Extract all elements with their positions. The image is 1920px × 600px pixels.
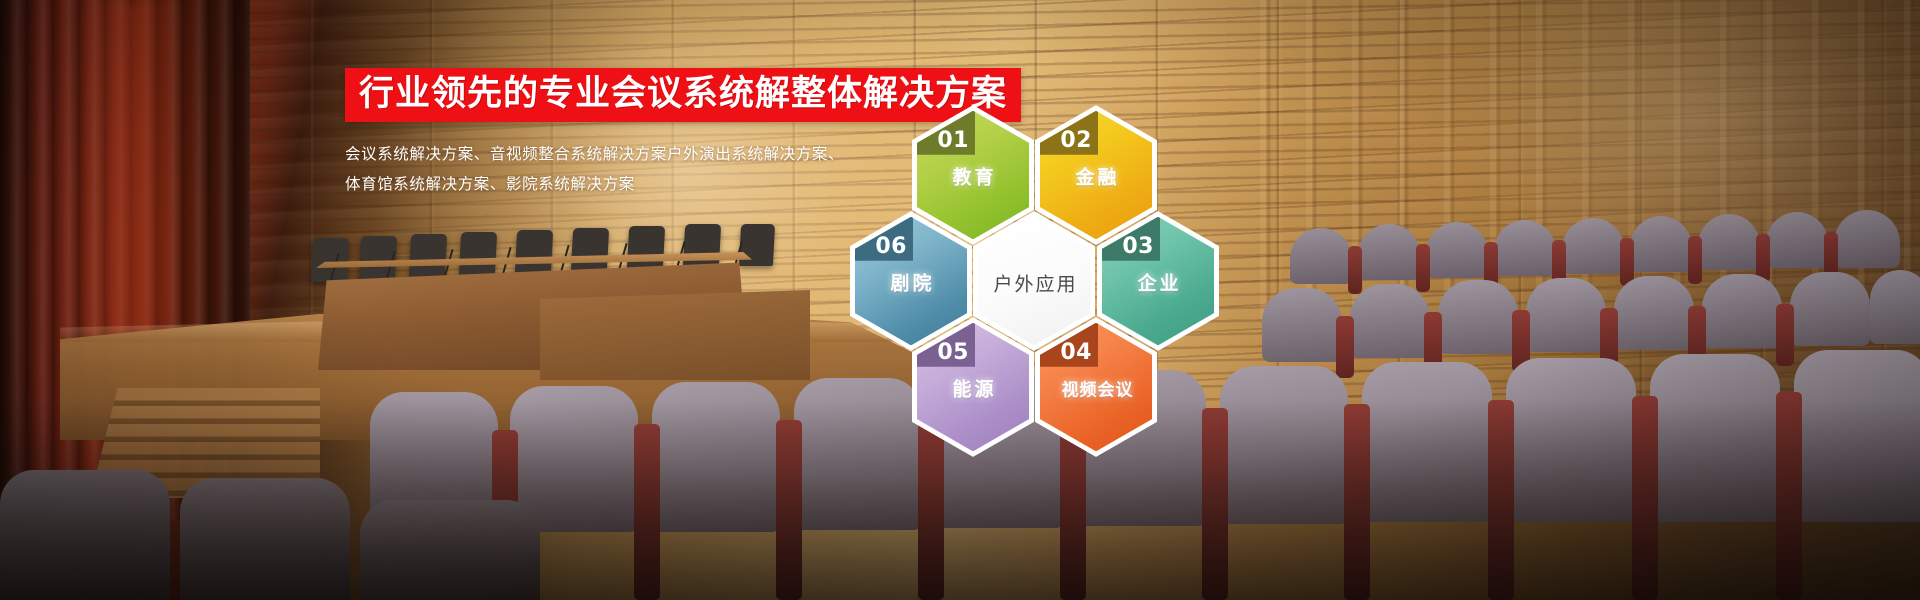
hexagon-cluster: 01 教育 02 金融 03 企业 bbox=[840, 100, 1260, 480]
stage-chair bbox=[683, 224, 721, 268]
promo-banner: 行业领先的专业会议系统解整体解决方案 会议系统解决方案、音视频整合系统解决方案户… bbox=[0, 0, 1920, 600]
stage-chair bbox=[459, 232, 497, 276]
hexagon-number: 04 bbox=[1060, 342, 1098, 367]
podium-side bbox=[540, 290, 810, 380]
hexagon-number: 05 bbox=[937, 342, 975, 367]
hexagon-label: 视频会议 bbox=[1040, 376, 1152, 401]
stage-chair bbox=[515, 230, 553, 274]
hexagon-label: 金融 bbox=[1040, 163, 1152, 190]
stage-chair bbox=[571, 228, 609, 272]
hexagon-number: 03 bbox=[1122, 236, 1160, 261]
hexagon-label: 企业 bbox=[1102, 269, 1214, 296]
hexagon-label: 能源 bbox=[917, 375, 1029, 402]
hexagon-number: 02 bbox=[1060, 130, 1098, 155]
hexagon-number: 06 bbox=[875, 236, 913, 261]
hexagon-label: 户外应用 bbox=[978, 270, 1090, 297]
stage-chair bbox=[409, 234, 447, 278]
stage-chair bbox=[627, 226, 665, 270]
hexagon-label: 剧院 bbox=[855, 269, 967, 296]
hexagon-label: 教育 bbox=[917, 163, 1029, 190]
hexagon-number: 01 bbox=[937, 130, 975, 155]
